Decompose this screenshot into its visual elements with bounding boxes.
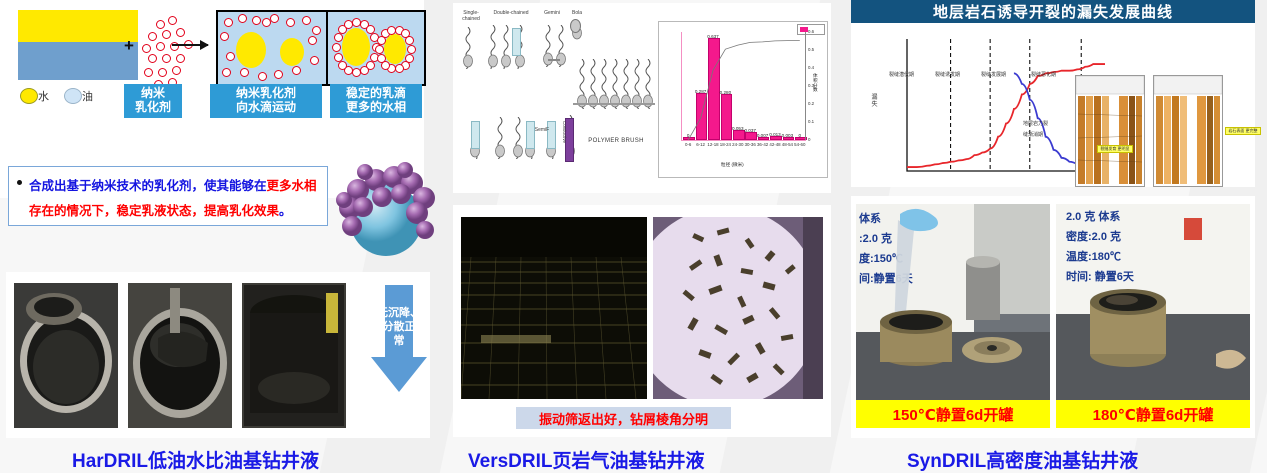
nanoparticle-cluster-svg [330, 150, 438, 262]
arrow-label-line2: 分散正 [374, 321, 424, 335]
surfactant-molecule-icon [499, 25, 513, 69]
right-footer-title: SynDRIL高密度油基钻井液 [907, 446, 1138, 473]
photo-aging-can-150c-svg: 体系 :2.0 克 度:150℃ 间:静置6天 [856, 204, 1050, 400]
emulsifier-ring [142, 44, 151, 53]
emulsifier-shell-ring [352, 68, 361, 77]
surfactant-architecture-figure: Single- chained Double-chained Gemini Bo… [453, 3, 831, 193]
photo-shale-shaker-svg [461, 217, 647, 399]
svg-text:体系: 体系 [859, 211, 881, 225]
plus-sign: + [124, 36, 134, 56]
label-conductive: Conductive [561, 121, 566, 129]
middle-panel-versdril: Single- chained Double-chained Gemini Bo… [450, 0, 840, 473]
emulsifier-shell-ring [334, 53, 343, 62]
emulsifier-ring [148, 32, 157, 41]
caption-line1: 稳定的乳滴 [346, 87, 406, 101]
emulsifier-ring [292, 66, 301, 75]
label-single-chained: Single- chained [458, 11, 484, 22]
emulsifier-ring [162, 54, 171, 63]
label-polymer-brush: POLYMER BRUSH [586, 138, 646, 145]
emulsifier-shell-ring [332, 43, 341, 52]
arrow-label-line1: 无沉降、 [374, 307, 424, 321]
down-arrow-label: 无沉降、 分散正 常 [374, 307, 424, 348]
emulsifier-shell-ring [405, 36, 414, 45]
emulsifier-ring [156, 20, 165, 29]
loss-curve-figure: 漏失 裂缝潜伏期 裂缝诱发期 裂缝发展期 裂缝恶化期 地层岩力裂 缝渐消期 [851, 23, 1255, 187]
caption-migration: 纳米乳化剂 向水滴运动 [210, 84, 322, 118]
emulsifier-ring [270, 14, 279, 23]
key-point-textbox: 合成出基于纳米技术的乳化剂，使其能够在更多水相 存在的情况下，稳定乳液状态，提高… [8, 166, 328, 226]
core-callout-left: 裂缝发育 更明显 [1097, 145, 1133, 153]
photo-mud-can-2-svg [128, 283, 232, 428]
caption-180c: 180℃静置6d开罐 [1056, 400, 1250, 428]
psd-y2tick: 0.5 [808, 47, 814, 52]
emulsifier-ring [310, 56, 319, 65]
svg-text:温度:180℃: 温度:180℃ [1066, 249, 1121, 263]
svg-text:度:150℃: 度:150℃ [859, 251, 903, 265]
psd-cumulative-line [682, 32, 806, 140]
right-panel-syndril: 地层岩石诱导开裂的漏失发展曲线 漏失 裂缝潜伏期 裂缝诱发期 裂缝发展期 裂缝恶… [845, 0, 1267, 473]
emulsifier-shell-ring [334, 33, 343, 42]
emulsifier-shell-ring [375, 45, 384, 54]
particle-size-chart: 00-60.2876-120.63712-180.28018-240.05324… [658, 21, 828, 178]
aging-can-photo-card: 体系 :2.0 克 度:150℃ 间:静置6天 [851, 196, 1255, 438]
emulsifier-ring [148, 54, 157, 63]
emulsifier-ring [226, 52, 235, 61]
bullet-line2-red: 存在的情况下，稳定乳液状态，提高乳化效果 [29, 204, 279, 218]
loss-annotation-line2: 缝渐消期 [1023, 131, 1043, 138]
water-droplet-large [236, 32, 266, 68]
label-bola: Bola [567, 11, 587, 17]
semif-block-1 [471, 121, 480, 149]
core-scan-2-svg [1154, 76, 1222, 186]
emulsifier-ring [258, 72, 267, 81]
slide-canvas: 水 油 + 纳 [0, 0, 1267, 473]
core-scan-1-svg [1076, 76, 1144, 186]
oil-droplet-icon [64, 88, 82, 104]
surfactant-molecule-icon [486, 25, 500, 69]
bullet-marker [17, 180, 22, 185]
emulsifier-ring [312, 26, 321, 35]
emulsifier-ring [176, 28, 185, 37]
loss-annotation-line1: 地层岩力裂 [1023, 120, 1048, 127]
psd-y2tick: 0.1 [808, 119, 814, 124]
photo-mud-can-3-svg [242, 283, 346, 428]
emulsifier-ring [144, 68, 153, 77]
caption-150c: 150℃静置6d开罐 [856, 400, 1050, 428]
caption-line1: 纳米乳化剂 [236, 87, 296, 101]
photo-drill-cuttings [653, 217, 823, 399]
label-double-chained: Double-chained [486, 11, 536, 17]
emulsifier-ring [220, 32, 229, 41]
left-panel-hardril: 水 油 + 纳 [0, 0, 440, 473]
photo-drill-cuttings-svg [653, 217, 823, 399]
stable-droplet-large [342, 28, 370, 66]
psd-y2tick: 0.6 [808, 29, 814, 34]
water-droplet-icon [20, 88, 38, 104]
caption-stable-droplet: 稳定的乳滴 更多的水相 [330, 84, 422, 118]
caption-nano-emulsifier: 纳米 乳化剂 [124, 84, 182, 118]
semif-block-2 [526, 121, 535, 149]
oil-phase-layer [18, 42, 138, 80]
label-semif: SemiF [531, 128, 553, 134]
photo-shale-shaker [461, 217, 647, 399]
bullet-line1-red: 更多水相 [267, 179, 317, 193]
emulsifier-ring [262, 18, 271, 27]
mud-can-photo-row [6, 272, 430, 438]
core-scan-image-2 [1153, 75, 1223, 187]
psd-plot-area: 00-60.2876-120.63712-180.28018-240.05324… [681, 32, 806, 141]
psd-xtick: 54-60 [791, 142, 809, 147]
legend-label-oil: 油 [82, 88, 93, 104]
core-scan-image-1 [1075, 75, 1145, 187]
svg-text:2.0 克 体系: 2.0 克 体系 [1066, 209, 1120, 223]
surfactant-molecule-icon [493, 117, 507, 159]
bullet-line-1: 合成出基于纳米技术的乳化剂，使其能够在更多水相 [29, 175, 317, 194]
svg-text::2.0 克: :2.0 克 [859, 231, 892, 245]
section-banner-title: 地层岩石诱导开裂的漏失发展曲线 [851, 0, 1255, 23]
emulsifier-ring [172, 66, 181, 75]
photo-mud-can-1 [14, 283, 118, 428]
water-droplet-small [280, 38, 304, 66]
surfactant-molecule-icon [461, 27, 475, 69]
emulsifier-ring [162, 30, 171, 39]
psd-y2tick: 0 [808, 137, 810, 142]
left-footer-title: HarDRIL低油水比油基钻井液 [72, 446, 319, 473]
svg-text:时间: 静置6天: 时间: 静置6天 [1066, 269, 1135, 283]
phase-label-3: 裂缝恶化期 [1031, 71, 1056, 78]
phase-label-1: 裂缝诱发期 [935, 71, 960, 78]
caption-line2: 乳化剂 [135, 101, 171, 115]
water-phase-layer [18, 10, 138, 42]
photo-mud-can-3 [242, 283, 346, 428]
psd-xlabel: 粒径 (微米) [721, 162, 744, 168]
bullet-line-2: 存在的情况下，稳定乳液状态，提高乳化效果。 [29, 200, 292, 219]
label-single-line2: chained [462, 16, 480, 22]
core-callout-left-text: 裂缝发育 更明显 [1100, 146, 1129, 151]
emulsifier-ring [224, 18, 233, 27]
polymer-backbone [573, 103, 655, 105]
emulsifier-ring [302, 16, 311, 25]
stable-droplet-small [384, 34, 406, 64]
semif-block-3 [547, 121, 556, 149]
phase-label-2: 裂缝发展期 [981, 71, 1006, 78]
emulsifier-ring [238, 14, 247, 23]
caption-line2: 向水滴运动 [236, 101, 296, 115]
emulsifier-ring [308, 36, 317, 45]
psd-secondary-axis: 00.10.20.30.40.50.6 [805, 32, 806, 140]
stage2-box [216, 10, 330, 86]
photo-aging-can-150c: 体系 :2.0 克 度:150℃ 间:静置6天 [856, 204, 1050, 400]
emulsifier-ring [156, 42, 165, 51]
emulsifier-ring [158, 68, 167, 77]
emulsifier-ring [240, 68, 249, 77]
emulsifier-ring [286, 18, 295, 27]
emulsifier-shell-ring [377, 54, 386, 63]
bullet-line1-blue: 合成出基于纳米技术的乳化剂，使其能够在 [29, 179, 267, 193]
psd-y2tick: 0.4 [808, 65, 814, 70]
gemini-connector [548, 59, 560, 61]
svg-text:密度:2.0 克: 密度:2.0 克 [1066, 229, 1121, 243]
photo-aging-can-180c: 2.0 克 体系 密度:2.0 克 温度:180℃ 时间: 静置6天 [1056, 204, 1250, 400]
emulsifier-ring [176, 54, 185, 63]
core-callout-right-text: 岩石表面 更完整 [1228, 128, 1257, 133]
emulsifier-ring [222, 68, 231, 77]
emulsifier-shell-ring [360, 66, 369, 75]
emulsifier-shell-ring [338, 61, 347, 70]
emulsifier-ring [252, 16, 261, 25]
double-chain-block [512, 28, 521, 56]
legend-label-water: 水 [38, 88, 49, 104]
core-callout-right: 岩石表面 更完整 [1225, 127, 1261, 135]
psd-ylabel: 体积分数 [813, 74, 821, 93]
arrow-label-line3: 常 [374, 335, 424, 349]
photo-mud-can-2 [128, 283, 232, 428]
shaker-caption: 振动筛返出好，钻屑棱角分明 [516, 407, 731, 429]
caption-line2: 更多的水相 [346, 101, 406, 115]
bola-head-icon [570, 19, 581, 33]
emulsifier-ring [168, 16, 177, 25]
loss-chart-ylabel: 漏失 [871, 95, 878, 108]
nanoparticle-cluster-image [330, 150, 438, 262]
label-gemini: Gemini [539, 11, 565, 17]
bullet-line2-tail: 。 [279, 204, 292, 218]
caption-line1: 纳米 [141, 87, 165, 101]
emulsifier-ring [274, 70, 283, 79]
phase-label-0: 裂缝潜伏期 [889, 71, 914, 78]
emulsifier-shell-ring [407, 45, 416, 54]
process-arrow-1 [172, 44, 208, 46]
shaker-cuttings-photo-card: 振动筛返出好，钻屑棱角分明 [453, 205, 831, 437]
stage3-box [326, 10, 426, 86]
middle-footer-title: VersDRIL页岩气油基钻井液 [468, 446, 704, 473]
photo-aging-can-180c-svg: 2.0 克 体系 密度:2.0 克 温度:180℃ 时间: 静置6天 [1056, 204, 1250, 400]
psd-y2tick: 0.2 [808, 101, 814, 106]
photo-mud-can-1-svg [14, 283, 118, 428]
surfactant-molecule-icon [641, 59, 655, 109]
